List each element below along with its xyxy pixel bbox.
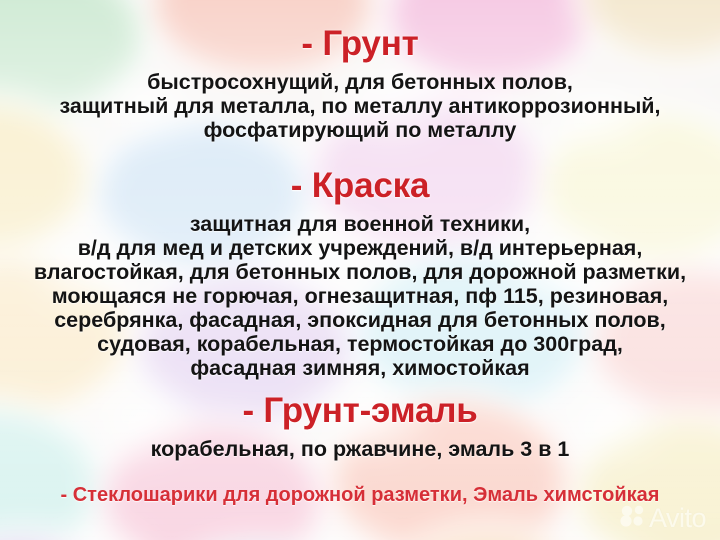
avito-dots-logo-icon <box>620 505 646 532</box>
body-line: судовая, корабельная, термостойкая до 30… <box>0 332 720 356</box>
body-line: моющаяся не горючая, огнезащитная, пф 11… <box>0 284 720 308</box>
body-line: серебрянка, фасадная, эпоксидная для бет… <box>0 308 720 332</box>
section-heading-kraska: - Краска <box>0 168 720 203</box>
section-body-grunt-emal: корабельная, по ржавчине, эмаль 3 в 1 <box>0 437 720 461</box>
section-heading-grunt: - Грунт <box>0 26 720 61</box>
body-line: фосфатирующий по металлу <box>0 118 720 142</box>
avito-wordmark: Avito <box>649 505 706 532</box>
body-line: защитный для металла, по металлу антикор… <box>0 94 720 118</box>
section-body-grunt: быстросохнущий, для бетонных полов, защи… <box>0 70 720 142</box>
poster-content: - Грунт быстросохнущий, для бетонных пол… <box>0 0 720 540</box>
body-line: быстросохнущий, для бетонных полов, <box>0 70 720 94</box>
advertisement-poster: - Грунт быстросохнущий, для бетонных пол… <box>0 0 720 540</box>
section-body-kraska: защитная для военной техники, в/д для ме… <box>0 212 720 381</box>
body-line: защитная для военной техники, <box>0 212 720 236</box>
footer-additional-products: - Стеклошарики для дорожной разметки, Эм… <box>0 484 720 507</box>
body-line: фасадная зимняя, химостойкая <box>0 356 720 380</box>
body-line: корабельная, по ржавчине, эмаль 3 в 1 <box>0 437 720 461</box>
section-heading-grunt-emal: - Грунт-эмаль <box>0 393 720 428</box>
body-line: в/д для мед и детских учреждений, в/д ин… <box>0 236 720 260</box>
avito-watermark: Avito <box>620 505 706 532</box>
body-line: влагостойкая, для бетонных полов, для до… <box>0 260 720 284</box>
